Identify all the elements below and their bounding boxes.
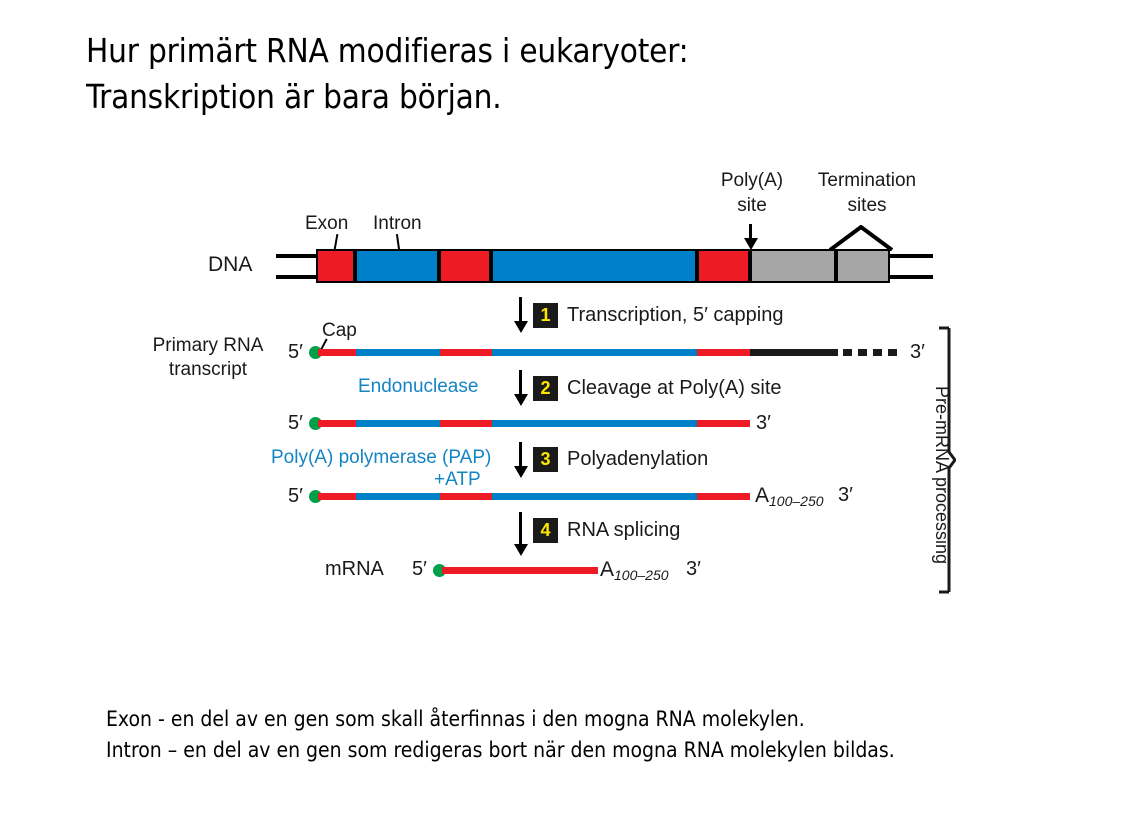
polyadenylated-rna-intron-1 bbox=[356, 493, 440, 500]
dash-1 bbox=[843, 349, 852, 356]
mrna-polya-count: 100–250 bbox=[614, 567, 669, 583]
dna-duplex-left-lower bbox=[276, 275, 318, 279]
cleaved-rna-3prime: 3′ bbox=[756, 412, 771, 434]
step-1-label: Transcription, 5′ capping bbox=[567, 304, 783, 327]
polyadenylated-rna-polya-tail: A100–250 bbox=[755, 484, 824, 508]
dna-exon-2 bbox=[439, 249, 491, 283]
polyadenylated-rna-exon-1 bbox=[318, 493, 356, 500]
polyadenylated-rna-5prime: 5′ bbox=[288, 485, 303, 507]
bracket-label: Pre-mRNA processing bbox=[931, 386, 952, 564]
label-exon: Exon bbox=[305, 213, 348, 235]
step-2-badge: 2 bbox=[533, 376, 558, 401]
polya-count: 100–250 bbox=[769, 493, 824, 509]
caption-line-exon: Exon - en del av en gen som skall återfi… bbox=[106, 704, 1066, 735]
label-primary-rna-line2: transcript bbox=[133, 359, 283, 381]
dna-duplex-right-lower bbox=[889, 275, 933, 279]
exon-leader-tick bbox=[334, 234, 339, 250]
cleaved-rna-exon-2 bbox=[440, 420, 492, 427]
step-2-label: Cleavage at Poly(A) site bbox=[567, 377, 782, 400]
mrna-polya-tail: A100–250 bbox=[600, 558, 669, 582]
dna-exon-1 bbox=[316, 249, 355, 283]
label-mrna: mRNA bbox=[325, 558, 384, 580]
label-primary-rna-line1: Primary RNA bbox=[133, 335, 283, 357]
cleaved-rna-exon-3 bbox=[697, 420, 750, 427]
polya-base-letter: A bbox=[755, 484, 769, 507]
step-4-arrow-head bbox=[514, 544, 528, 556]
primary-rna-readthrough bbox=[750, 349, 838, 356]
label-endonuclease: Endonuclease bbox=[358, 376, 478, 398]
dna-exon-3 bbox=[697, 249, 750, 283]
primary-rna-intron-2 bbox=[492, 349, 697, 356]
label-pap-line1: Poly(A) polymerase (PAP) bbox=[271, 447, 491, 469]
label-pap-line2: +ATP bbox=[434, 469, 481, 491]
cleaved-rna-exon-1 bbox=[318, 420, 356, 427]
polyadenylated-rna-exon-2 bbox=[440, 493, 492, 500]
dna-duplex-right-upper bbox=[889, 254, 933, 258]
rna-processing-diagram: Exon Intron Poly(A) site Termination sit… bbox=[0, 0, 1140, 824]
step-1-arrow-head bbox=[514, 321, 528, 333]
caption-block: Exon - en del av en gen som skall återfi… bbox=[106, 704, 1066, 766]
mrna-polya-base-letter: A bbox=[600, 558, 614, 581]
primary-rna-intron-1 bbox=[356, 349, 440, 356]
slide-canvas: Hur primärt RNA modifieras i eukaryoter:… bbox=[0, 0, 1140, 824]
primary-rna-5prime: 5′ bbox=[288, 341, 303, 363]
dna-duplex-left-upper bbox=[276, 254, 318, 258]
label-termination-line1: Termination bbox=[792, 170, 942, 192]
cleaved-rna-intron-2 bbox=[492, 420, 697, 427]
step-2-arrow-head bbox=[514, 394, 528, 406]
label-dna: DNA bbox=[208, 254, 252, 276]
polyadenylated-rna-intron-2 bbox=[492, 493, 697, 500]
dash-3 bbox=[873, 349, 882, 356]
step-4-badge: 4 bbox=[533, 518, 558, 543]
intron-leader-tick bbox=[396, 234, 400, 250]
mrna-5prime: 5′ bbox=[412, 558, 427, 580]
dna-termination-region-1 bbox=[750, 249, 836, 283]
mrna-3prime: 3′ bbox=[686, 558, 701, 580]
primary-rna-exon-2 bbox=[440, 349, 492, 356]
cleaved-rna-intron-1 bbox=[356, 420, 440, 427]
step-4-label: RNA splicing bbox=[567, 519, 680, 542]
step-4-arrow-shaft bbox=[519, 512, 522, 548]
label-polya-site-line2: site bbox=[700, 195, 804, 217]
primary-rna-exon-3 bbox=[697, 349, 750, 356]
primary-rna-3prime: 3′ bbox=[910, 341, 925, 363]
step-1-badge: 1 bbox=[533, 303, 558, 328]
label-termination-line2: sites bbox=[792, 195, 942, 217]
cleaved-rna-5prime: 5′ bbox=[288, 412, 303, 434]
polyadenylated-rna-3prime: 3′ bbox=[838, 484, 853, 506]
primary-rna-dashes bbox=[843, 349, 903, 356]
dna-termination-region-2 bbox=[836, 249, 890, 283]
step-3-label: Polyadenylation bbox=[567, 448, 708, 471]
dash-2 bbox=[858, 349, 867, 356]
dna-intron-2 bbox=[491, 249, 697, 283]
label-polya-site-line1: Poly(A) bbox=[700, 170, 804, 192]
polyadenylated-rna-exon-3 bbox=[697, 493, 750, 500]
step-3-badge: 3 bbox=[533, 447, 558, 472]
dna-intron-1 bbox=[355, 249, 439, 283]
label-intron: Intron bbox=[373, 213, 422, 235]
caption-line-intron: Intron – en del av en gen som redigeras … bbox=[106, 735, 1066, 766]
step-3-arrow-head bbox=[514, 466, 528, 478]
dash-4 bbox=[888, 349, 897, 356]
mrna-coding-sequence bbox=[442, 567, 598, 574]
termination-chevron-icon bbox=[828, 225, 894, 251]
primary-rna-exon-1 bbox=[318, 349, 356, 356]
